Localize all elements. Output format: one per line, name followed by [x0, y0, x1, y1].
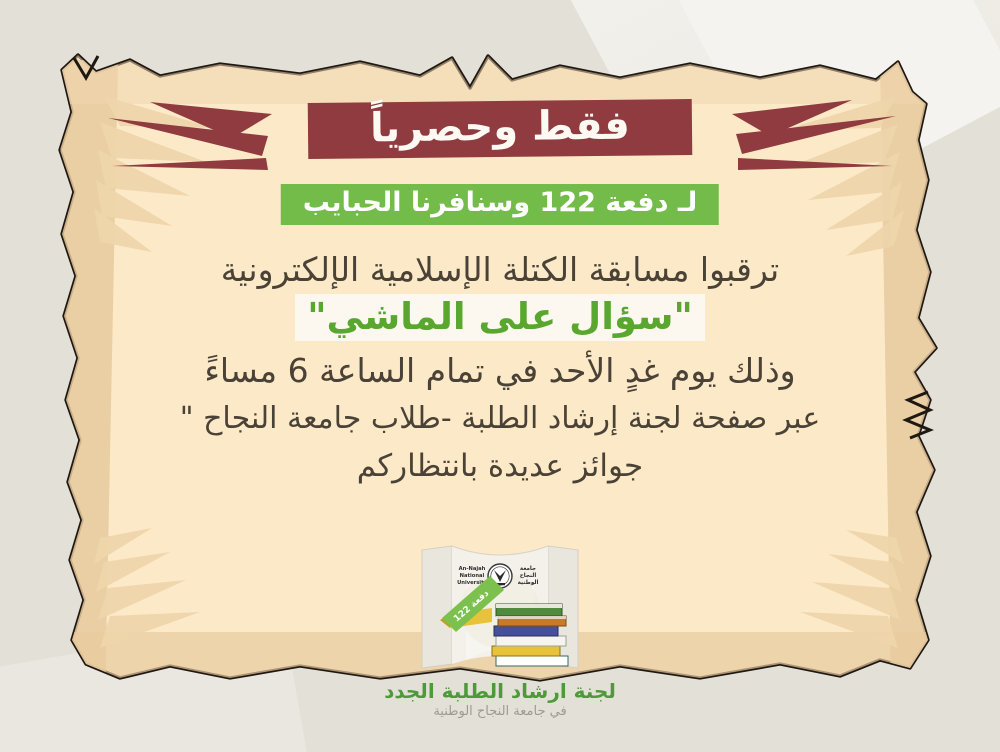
green-ribbon-banner: لـ دفعة 122 وسنافرنا الحبايب: [281, 184, 719, 225]
red-ribbon-banner: فقط وحصرياً: [308, 99, 693, 159]
committee-name: لجنة ارشاد الطلبة الجدد: [240, 680, 760, 703]
body-line-4: عبر صفحة لجنة إرشاد الطلبة -طلاب جامعة ا…: [120, 399, 880, 439]
announcement-body: ترقبوا مسابقة الكتلة الإسلامية الإلكترون…: [120, 248, 880, 487]
contest-title-text: "سؤال على الماشي": [307, 295, 693, 338]
committee-affiliation: في جامعة النجاح الوطنية: [240, 704, 760, 721]
body-line-1: ترقبوا مسابقة الكتلة الإسلامية الإلكترون…: [120, 248, 880, 292]
svg-text:جامعة: جامعة: [520, 566, 536, 572]
green-ribbon-text: لـ دفعة 122 وسنافرنا الحبايب: [303, 187, 697, 219]
svg-text:National: National: [460, 573, 485, 579]
book-stack-icon: [492, 604, 568, 666]
red-ribbon-text: فقط وحصرياً: [354, 104, 646, 149]
svg-text:النجاح: النجاح: [520, 573, 537, 579]
university-book-illustration: An-Najah National University جامعة النجا…: [400, 536, 600, 678]
committee-signature: لجنة ارشاد الطلبة الجدد في جامعة النجاح …: [240, 680, 760, 721]
body-line-3: وذلك يوم غدٍ الأحد في تمام الساعة 6 مساء…: [120, 349, 880, 393]
body-line-5: جوائز عديدة بانتظاركم: [120, 446, 880, 488]
svg-text:الوطنية: الوطنية: [518, 580, 539, 586]
contest-title-highlight: "سؤال على الماشي": [295, 294, 705, 341]
svg-text:An-Najah: An-Najah: [459, 566, 486, 572]
poster-canvas: فقط وحصرياً لـ دفعة 122 وسنافرنا الحبايب…: [0, 0, 1000, 752]
